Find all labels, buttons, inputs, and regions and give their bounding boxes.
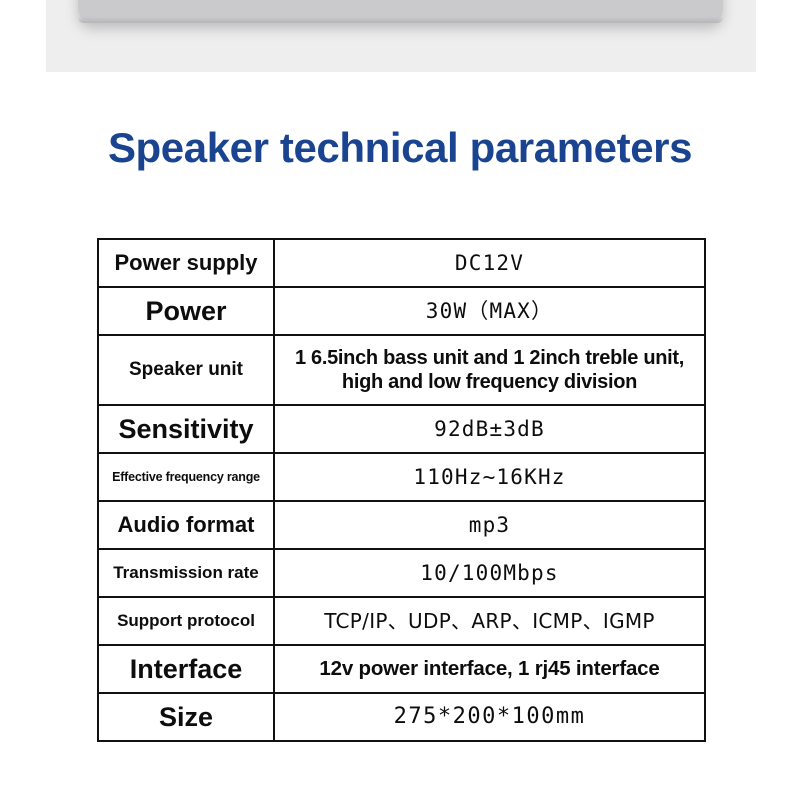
spec-value-power-supply: DC12V	[274, 239, 705, 287]
spec-label-sensitivity: Sensitivity	[98, 405, 274, 453]
table-row: Transmission rate 10/100Mbps	[98, 549, 705, 597]
spec-table: Power supply DC12V Power 30W（MAX） Speake…	[97, 238, 706, 742]
spec-value-interface: 12v power interface, 1 rj45 interface	[274, 645, 705, 693]
table-row: Power supply DC12V	[98, 239, 705, 287]
spec-sheet-page: Speaker technical parameters Power suppl…	[0, 0, 800, 800]
spec-label-power: Power	[98, 287, 274, 335]
spec-label-support-protocol: Support protocol	[98, 597, 274, 645]
table-row: Speaker unit 1 6.5inch bass unit and 1 2…	[98, 335, 705, 405]
table-row: Support protocol TCP/IP、UDP、ARP、ICMP、IGM…	[98, 597, 705, 645]
spec-value-size: 275*200*100mm	[274, 693, 705, 741]
table-row: Effective frequency range 110Hz~16KHz	[98, 453, 705, 501]
product-photo-crop	[46, 0, 756, 72]
spec-value-support-protocol: TCP/IP、UDP、ARP、ICMP、IGMP	[274, 597, 705, 645]
spec-label-effective-frequency-range: Effective frequency range	[98, 453, 274, 501]
spec-value-audio-format: mp3	[274, 501, 705, 549]
table-row: Power 30W（MAX）	[98, 287, 705, 335]
table-row: Interface 12v power interface, 1 rj45 in…	[98, 645, 705, 693]
spec-value-effective-frequency-range: 110Hz~16KHz	[274, 453, 705, 501]
page-title: Speaker technical parameters	[0, 124, 800, 172]
table-row: Size 275*200*100mm	[98, 693, 705, 741]
spec-label-transmission-rate: Transmission rate	[98, 549, 274, 597]
spec-value-speaker-unit: 1 6.5inch bass unit and 1 2inch treble u…	[274, 335, 705, 405]
spec-label-size: Size	[98, 693, 274, 741]
speaker-device-image	[78, 0, 723, 23]
spec-value-power: 30W（MAX）	[274, 287, 705, 335]
spec-value-transmission-rate: 10/100Mbps	[274, 549, 705, 597]
spec-label-audio-format: Audio format	[98, 501, 274, 549]
spec-label-power-supply: Power supply	[98, 239, 274, 287]
table-row: Sensitivity 92dB±3dB	[98, 405, 705, 453]
spec-label-interface: Interface	[98, 645, 274, 693]
spec-label-speaker-unit: Speaker unit	[98, 335, 274, 405]
table-row: Audio format mp3	[98, 501, 705, 549]
spec-value-sensitivity: 92dB±3dB	[274, 405, 705, 453]
